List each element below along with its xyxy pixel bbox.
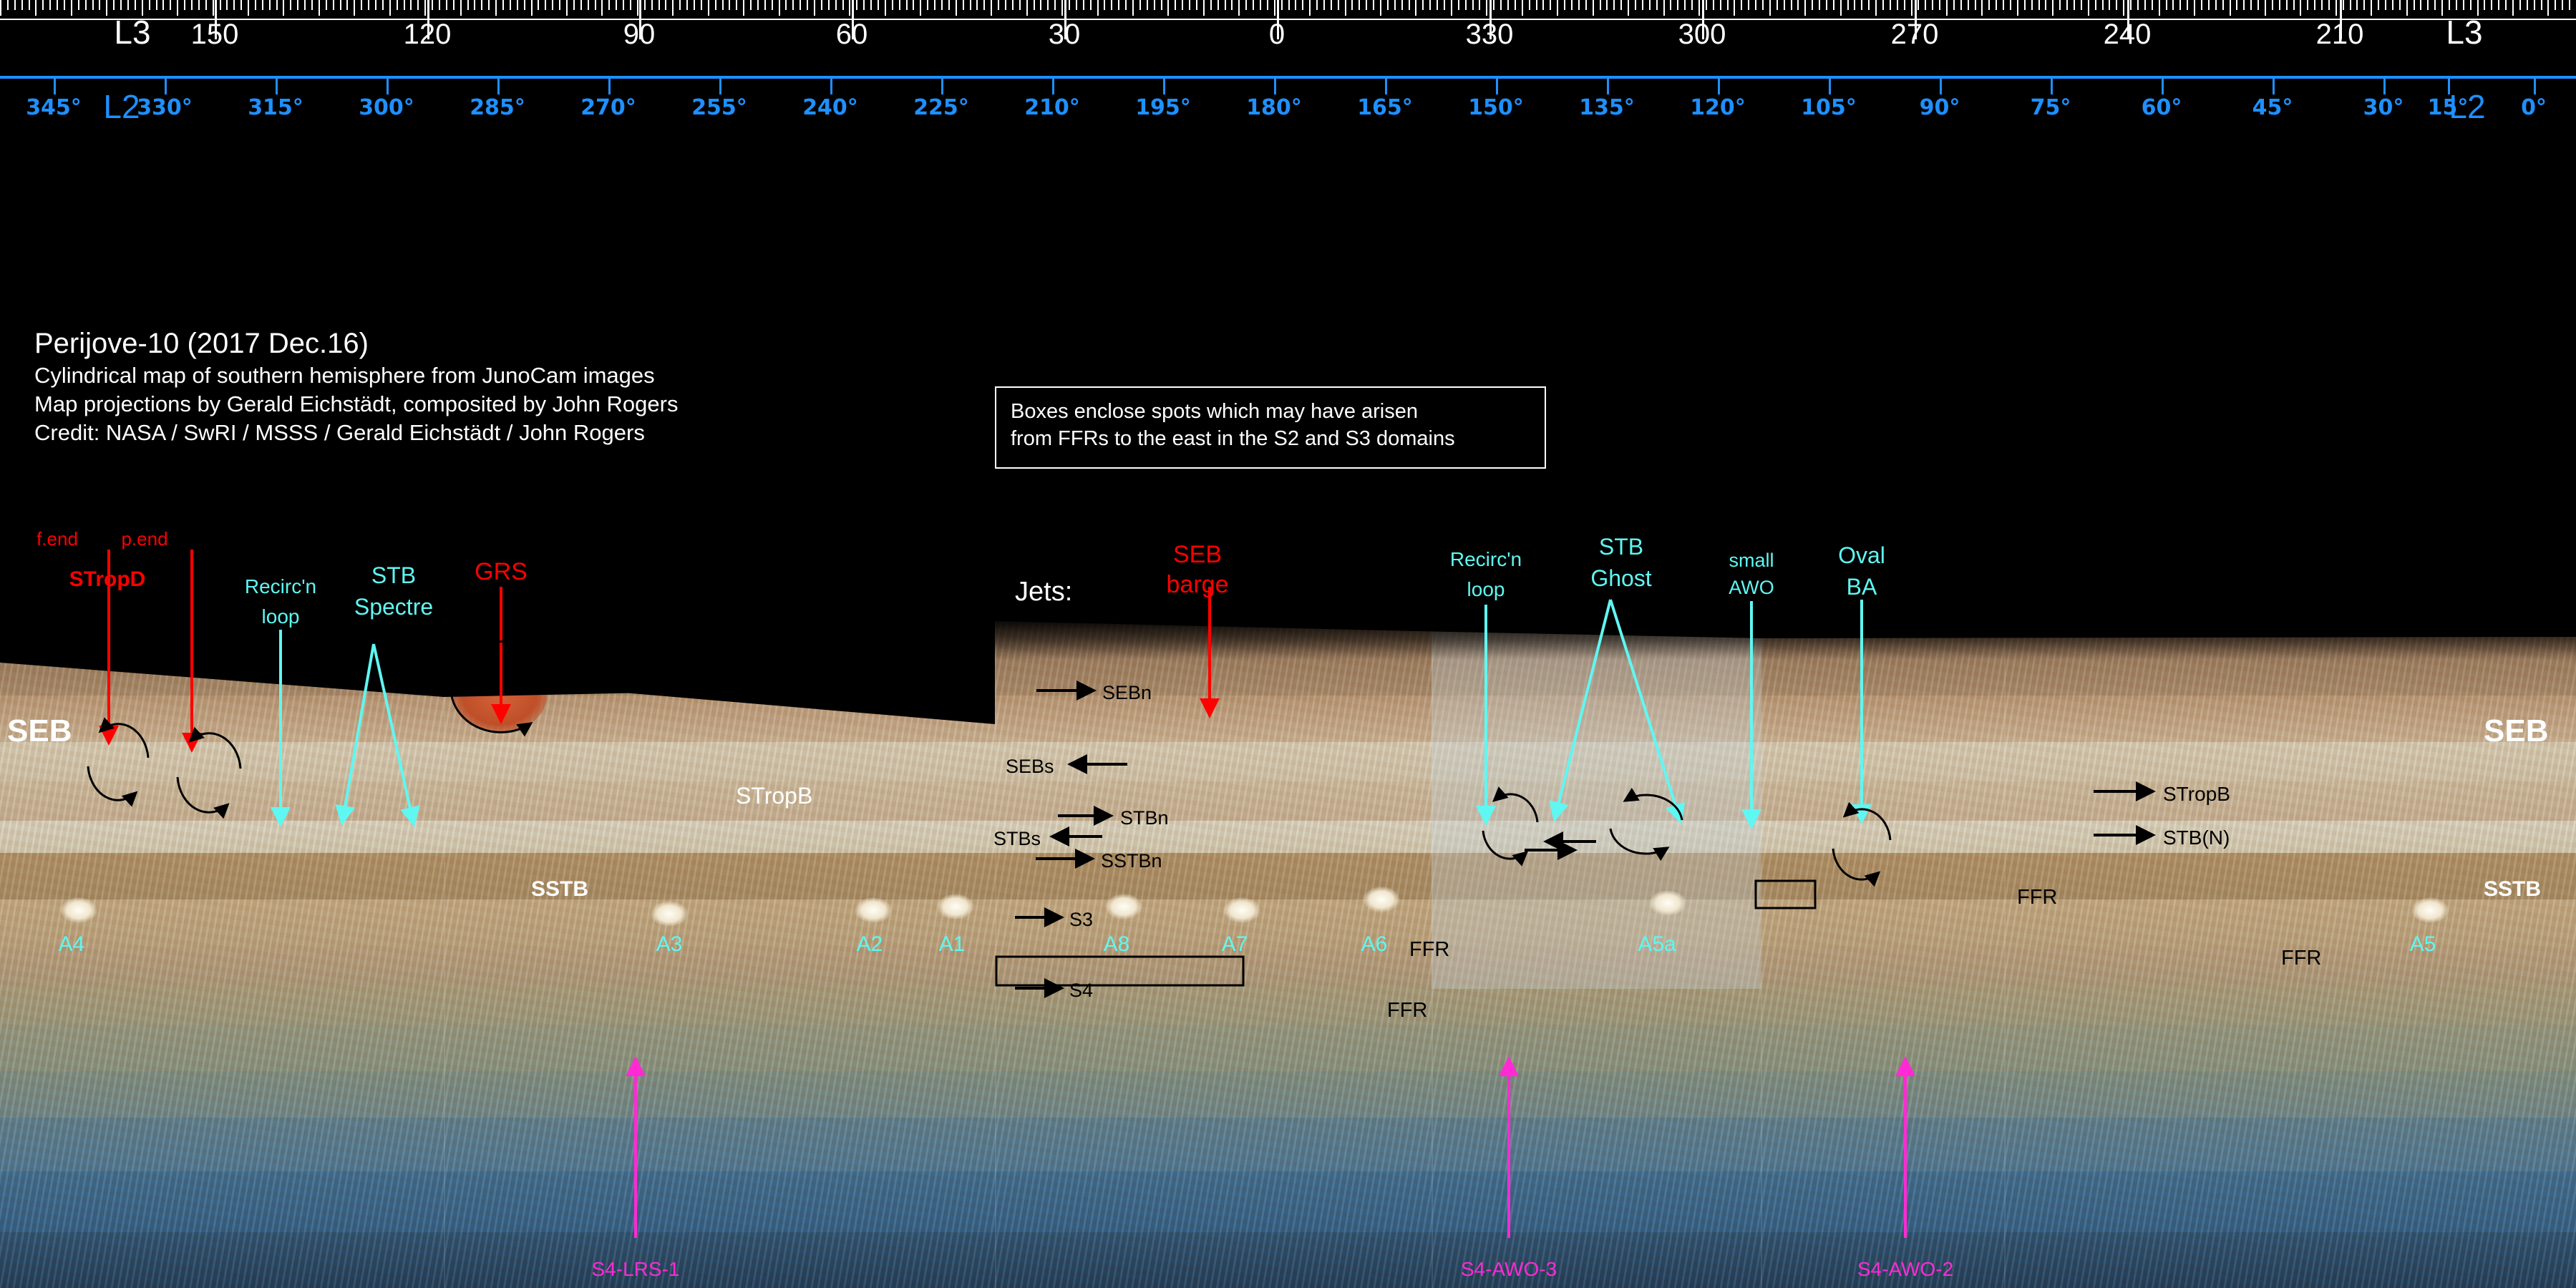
l3-tick xyxy=(1953,0,1955,10)
label-recircn-2: loop xyxy=(262,607,300,627)
l2-tick xyxy=(2534,79,2536,94)
l3-tick xyxy=(1500,0,1502,10)
label-stb-ghost-1: STB xyxy=(1599,535,1643,558)
spot-label-a3: A3 xyxy=(656,934,683,955)
l3-tick xyxy=(1791,0,1792,10)
l3-tick xyxy=(1147,0,1148,10)
l3-tick xyxy=(1111,0,1112,10)
l3-tick xyxy=(1267,0,1268,10)
l2-system-label: L2 xyxy=(103,90,140,123)
l3-tick xyxy=(1161,0,1162,10)
l3-tick xyxy=(821,0,822,10)
l3-tick xyxy=(1451,0,1452,16)
l3-tick xyxy=(2024,0,2026,10)
l3-tick xyxy=(213,0,214,16)
l3-tick xyxy=(510,0,511,10)
l3-tick xyxy=(1741,0,1742,10)
spot-label-a5: A5 xyxy=(2410,934,2436,955)
l3-tick xyxy=(85,0,87,10)
l3-tick xyxy=(1366,0,1367,10)
l3-tick xyxy=(1012,0,1014,10)
l3-tick xyxy=(863,0,865,10)
l3-tick xyxy=(2236,0,2237,10)
l3-tick xyxy=(1225,0,1226,10)
l3-tick xyxy=(1804,0,1806,16)
l3-tick xyxy=(417,0,419,10)
spot-label-a6: A6 xyxy=(1361,934,1388,955)
label-stropb-r: STropB xyxy=(2163,784,2230,804)
l3-tick xyxy=(389,0,391,16)
label-seb-barge-2: barge xyxy=(1167,572,1229,597)
l3-tick xyxy=(14,0,16,10)
l3-tick xyxy=(2392,0,2393,10)
l3-tick xyxy=(495,0,497,16)
l3-tick xyxy=(404,0,405,10)
l3-tick xyxy=(1875,0,1877,16)
l2-tick xyxy=(387,79,389,94)
title-block: Perijove-10 (2017 Dec.16) Cylindrical ma… xyxy=(34,326,678,447)
label-s4-awo-2: S4-AWO-2 xyxy=(1857,1259,1953,1279)
l3-tick xyxy=(1189,0,1190,10)
l3-tick xyxy=(1833,0,1834,10)
l3-tick xyxy=(948,0,950,10)
label-small-awo-2: AWO xyxy=(1729,578,1774,597)
label-recircn2-1: Recirc'n xyxy=(1450,550,1522,570)
l3-tick xyxy=(1826,0,1827,10)
l3-tick xyxy=(2144,0,2146,10)
l3-tick xyxy=(1338,0,1339,10)
label-ffr-4: FFR xyxy=(2281,948,2321,969)
l2-tick xyxy=(2162,79,2164,94)
l3-tick xyxy=(1840,0,1842,16)
l3-tick xyxy=(1422,0,1424,10)
label-ffr-2: FFR xyxy=(1387,1000,1427,1021)
l3-tick xyxy=(2385,0,2386,10)
l3-tick xyxy=(1691,0,1693,10)
subtitle-line-2: Map projections by Gerald Eichstädt, com… xyxy=(34,390,678,419)
l3-tick xyxy=(2179,0,2181,10)
l2-tick xyxy=(1052,79,1054,94)
l3-tick xyxy=(460,0,462,16)
l3-tick xyxy=(333,0,334,10)
l3-tick xyxy=(488,0,490,10)
l3-tick xyxy=(1550,0,1551,10)
l3-tick xyxy=(799,0,801,10)
l3-tick xyxy=(1946,0,1948,16)
l2-tick xyxy=(1274,79,1276,94)
l3-tick xyxy=(481,0,482,10)
l3-tick xyxy=(346,0,348,10)
l3-tick xyxy=(453,0,455,10)
l3-tick xyxy=(1797,0,1799,10)
l3-tick-label: 210 xyxy=(2316,20,2364,49)
l3-tick xyxy=(580,0,582,10)
l3-tick xyxy=(2152,0,2153,10)
label-stbn-r: STB(N) xyxy=(2163,828,2230,848)
l3-tick xyxy=(297,0,298,10)
l3-tick xyxy=(1373,0,1374,10)
l3-tick xyxy=(1628,0,1629,16)
l3-tick xyxy=(162,0,164,10)
page-title: Perijove-10 (2017 Dec.16) xyxy=(34,326,678,361)
l3-tick xyxy=(679,0,681,10)
l3-tick xyxy=(764,0,766,10)
l3-tick xyxy=(750,0,752,10)
l3-tick xyxy=(1125,0,1127,10)
l2-tick xyxy=(1385,79,1387,94)
l3-tick xyxy=(2491,0,2492,10)
l3-tick xyxy=(1861,0,1862,10)
l3-tick xyxy=(1323,0,1325,10)
l3-tick xyxy=(608,0,610,10)
l3-tick xyxy=(92,0,94,10)
spot-label-a7: A7 xyxy=(1222,934,1248,955)
l3-tick xyxy=(2505,0,2507,10)
l3-tick xyxy=(1939,0,1940,10)
l3-tick xyxy=(2378,0,2379,10)
l3-tick xyxy=(29,0,30,10)
l3-tick xyxy=(2010,0,2011,10)
l3-tick xyxy=(1578,0,1580,10)
l3-tick xyxy=(1819,0,1820,10)
credit-line: Credit: NASA / SwRI / MSSS / Gerald Eich… xyxy=(34,419,678,447)
l3-tick xyxy=(255,0,256,10)
l3-tick xyxy=(1175,0,1176,10)
l3-tick xyxy=(1897,0,1898,10)
l3-tick xyxy=(2215,0,2217,10)
legend-note-box: Boxes enclose spots which may have arise… xyxy=(995,386,1546,469)
label-small-awo-1: small xyxy=(1729,551,1774,570)
l3-tick xyxy=(517,0,518,10)
l3-tick xyxy=(1656,0,1658,10)
label-p-end: p.end xyxy=(121,530,167,548)
l2-tick-label: 255° xyxy=(691,97,747,119)
l3-tick xyxy=(743,0,744,16)
l3-tick xyxy=(1203,0,1205,16)
label-stb-ghost-2: Ghost xyxy=(1590,567,1651,590)
l3-tick xyxy=(2562,0,2563,10)
l2-tick-label: 45° xyxy=(2252,97,2293,119)
label-jets: Jets: xyxy=(1015,578,1072,605)
l2-tick xyxy=(1940,79,1942,94)
l2-tick-label: 315° xyxy=(248,97,303,119)
l3-tick xyxy=(941,0,943,10)
l3-tick xyxy=(1288,0,1290,10)
l3-tick-label: 300 xyxy=(1678,20,1726,49)
label-recircn2-2: loop xyxy=(1467,580,1505,600)
l2-tick xyxy=(1163,79,1165,94)
l3-tick xyxy=(779,0,780,16)
l3-tick xyxy=(2498,0,2499,10)
l3-tick xyxy=(1217,0,1219,10)
l3-tick xyxy=(545,0,546,10)
l3-tick xyxy=(1069,0,1070,10)
l3-tick xyxy=(1253,0,1254,10)
l3-tick xyxy=(177,0,178,16)
l3-tick xyxy=(814,0,815,16)
l3-tick-label: 60 xyxy=(836,20,868,49)
l3-tick xyxy=(2484,0,2485,10)
l3-tick xyxy=(856,0,857,10)
l3-tick xyxy=(397,0,398,10)
l3-tick xyxy=(410,0,412,10)
coordinate-scalebar: 1501209060300330300270240210L3L3 345°330… xyxy=(0,0,2576,129)
l3-tick xyxy=(2420,0,2421,10)
l3-tick-label: 270 xyxy=(1891,20,1939,49)
l3-tick xyxy=(1316,0,1318,10)
l3-tick xyxy=(552,0,553,10)
l3-tick xyxy=(35,0,37,16)
l3-tick xyxy=(2257,0,2259,10)
l3-tick xyxy=(1076,0,1077,10)
label-oval-ba-2: BA xyxy=(1847,575,1877,598)
l3-tick xyxy=(1777,0,1778,10)
l3-tick xyxy=(1238,0,1240,16)
l3-tick xyxy=(1359,0,1360,10)
l3-tick xyxy=(1932,0,1933,10)
l3-tick xyxy=(2527,0,2528,10)
l3-tick xyxy=(2081,0,2082,10)
l3-tick xyxy=(467,0,469,10)
label-jet-s3: S3 xyxy=(1069,910,1093,930)
l3-tick xyxy=(757,0,759,10)
l3-tick xyxy=(2166,0,2167,10)
l3-tick xyxy=(1302,0,1303,10)
l3-tick xyxy=(135,0,136,10)
l3-tick xyxy=(1429,0,1431,10)
l2-tick-label: 330° xyxy=(137,97,193,119)
l2-tick-label: 150° xyxy=(1468,97,1524,119)
l3-tick xyxy=(446,0,447,10)
l2-tick-label: 0° xyxy=(2521,97,2547,119)
l3-tick xyxy=(870,0,872,10)
l3-tick xyxy=(1593,0,1594,16)
l3-tick xyxy=(184,0,185,10)
l3-tick xyxy=(290,0,291,10)
l3-tick xyxy=(375,0,376,10)
l3-tick xyxy=(1515,0,1516,10)
l3-tick xyxy=(892,0,893,10)
l3-tick xyxy=(998,0,999,10)
l3-tick xyxy=(2534,0,2535,10)
l3-tick xyxy=(1104,0,1105,10)
l2-tick-label: 225° xyxy=(913,97,969,119)
l3-tick xyxy=(2547,0,2549,16)
label-grs: GRS xyxy=(475,560,528,584)
l3-tick xyxy=(502,0,504,10)
l3-tick xyxy=(637,0,638,16)
l3-tick xyxy=(311,0,313,10)
l3-tick xyxy=(220,0,221,10)
l3-tick xyxy=(149,0,150,10)
l3-tick xyxy=(1911,0,1912,16)
l3-tick xyxy=(1571,0,1573,10)
l3-tick xyxy=(1005,0,1006,10)
l3-tick xyxy=(2286,0,2288,10)
l2-system-label: L2 xyxy=(2449,90,2485,123)
l2-tick xyxy=(54,79,56,94)
l2-tick xyxy=(2383,79,2386,94)
l3-tick xyxy=(934,0,935,10)
l3-tick xyxy=(1090,0,1092,10)
l3-tick xyxy=(1968,0,1969,10)
l3-tick xyxy=(1762,0,1764,10)
l3-tick xyxy=(2463,0,2464,10)
l3-tick xyxy=(976,0,978,10)
l2-tick-label: 240° xyxy=(802,97,858,119)
l3-tick xyxy=(828,0,830,10)
l3-tick xyxy=(1437,0,1438,10)
l3-tick-label: 330 xyxy=(1466,20,1514,49)
l3-tick xyxy=(276,0,278,10)
l3-tick xyxy=(1975,0,1976,10)
l3-tick xyxy=(2045,0,2046,10)
l3-tick xyxy=(2003,0,2004,10)
l3-tick xyxy=(57,0,58,10)
label-s4-awo-3: S4-AWO-3 xyxy=(1461,1259,1557,1279)
l3-tick xyxy=(983,0,985,10)
l3-tick xyxy=(474,0,475,10)
l3-tick xyxy=(262,0,263,10)
l2-tick-label: 90° xyxy=(1920,97,1960,119)
label-jet-sebn: SEBn xyxy=(1102,683,1152,703)
l3-tick xyxy=(49,0,51,10)
l3-tick xyxy=(2406,0,2408,16)
l3-tick xyxy=(1026,0,1028,16)
l3-tick xyxy=(538,0,539,10)
l2-tick xyxy=(719,79,721,94)
l3-tick xyxy=(2541,0,2542,10)
l3-tick xyxy=(1642,0,1643,10)
l3-tick xyxy=(64,0,65,10)
l3-tick xyxy=(0,0,1,16)
l3-tick xyxy=(573,0,575,10)
l3-tick xyxy=(991,0,992,16)
l2-tick xyxy=(497,79,500,94)
label-seb-r: SEB xyxy=(2484,716,2548,747)
l3-tick xyxy=(1309,0,1311,16)
l3-tick xyxy=(2031,0,2033,10)
l3-tick xyxy=(623,0,624,10)
l3-tick xyxy=(2371,0,2372,16)
l3-tick xyxy=(304,0,306,10)
label-stropb-l: STropB xyxy=(736,784,812,807)
l3-tick xyxy=(1585,0,1587,10)
label-jet-sebs: SEBs xyxy=(1006,757,1054,776)
l2-longitude-ruler: 345°330°315°300°285°270°255°240°225°210°… xyxy=(0,72,2576,129)
l3-tick xyxy=(1097,0,1099,16)
l3-tick xyxy=(1663,0,1665,16)
l3-tick xyxy=(1154,0,1155,10)
l3-tick xyxy=(1139,0,1141,10)
l3-tick-label: 90 xyxy=(623,20,656,49)
l3-tick xyxy=(722,0,724,10)
l3-tick xyxy=(2017,0,2018,16)
l3-tick xyxy=(439,0,440,10)
l3-tick xyxy=(1083,0,1084,10)
l3-tick xyxy=(1882,0,1884,10)
l3-tick xyxy=(1988,0,1990,10)
l3-tick xyxy=(368,0,369,10)
l3-tick xyxy=(1727,0,1729,10)
l3-tick xyxy=(1472,0,1474,10)
l2-tick-label: 135° xyxy=(1579,97,1635,119)
l3-tick xyxy=(1713,0,1714,10)
l3-tick xyxy=(1684,0,1686,10)
l3-baseline xyxy=(0,19,2576,20)
l2-tick xyxy=(2273,79,2275,94)
l3-tick xyxy=(2350,0,2351,10)
l2-tick-label: 165° xyxy=(1357,97,1413,119)
l3-tick xyxy=(2279,0,2280,10)
l3-tick xyxy=(2414,0,2415,10)
l3-tick xyxy=(1734,0,1735,16)
label-jet-sstbn: SSTBn xyxy=(1101,852,1162,871)
label-recircn-1: Recirc'n xyxy=(245,577,316,597)
l3-tick xyxy=(198,0,200,10)
l3-tick xyxy=(1345,0,1346,16)
l3-tick xyxy=(1394,0,1396,10)
l3-tick xyxy=(2102,0,2104,10)
l3-tick xyxy=(2519,0,2521,10)
l3-tick xyxy=(1409,0,1410,10)
l3-tick xyxy=(531,0,533,16)
l3-tick xyxy=(120,0,122,10)
l3-tick xyxy=(2512,0,2514,16)
l3-tick xyxy=(2230,0,2231,16)
l3-tick xyxy=(2336,0,2337,16)
l3-tick xyxy=(595,0,596,10)
l3-tick xyxy=(1529,0,1530,10)
l3-tick xyxy=(1748,0,1749,10)
l2-tick-label: 180° xyxy=(1246,97,1302,119)
l3-tick xyxy=(319,0,320,16)
l3-tick xyxy=(2307,0,2308,10)
l3-tick xyxy=(432,0,433,10)
l3-tick xyxy=(283,0,284,16)
l3-tick xyxy=(1401,0,1403,10)
l3-tick xyxy=(2074,0,2075,10)
l3-tick xyxy=(2399,0,2401,10)
l3-tick xyxy=(233,0,235,10)
l2-tick-label: 75° xyxy=(2031,97,2071,119)
label-jet-s4: S4 xyxy=(1069,981,1093,1000)
l3-tick xyxy=(658,0,660,10)
l3-tick xyxy=(849,0,850,16)
l3-tick xyxy=(2109,0,2110,10)
l3-tick xyxy=(1522,0,1523,16)
l3-tick xyxy=(1231,0,1233,10)
l3-tick xyxy=(340,0,341,10)
label-seb-barge-1: SEB xyxy=(1173,542,1222,567)
l3-tick xyxy=(2123,0,2124,16)
l3-tick xyxy=(694,0,695,10)
l3-tick xyxy=(2434,0,2436,10)
l3-tick xyxy=(1444,0,1445,10)
spot-label-a2: A2 xyxy=(857,934,883,955)
l3-tick xyxy=(1196,0,1197,10)
l3-tick xyxy=(2250,0,2252,10)
l3-tick xyxy=(630,0,631,10)
l3-tick xyxy=(1493,0,1494,10)
l2-tick-label: 105° xyxy=(1801,97,1857,119)
l3-tick xyxy=(2470,0,2471,10)
l3-tick xyxy=(1387,0,1389,10)
l3-tick xyxy=(1557,0,1558,16)
l2-tick xyxy=(1718,79,1720,94)
l3-tick xyxy=(1620,0,1622,10)
l3-tick xyxy=(382,0,384,10)
